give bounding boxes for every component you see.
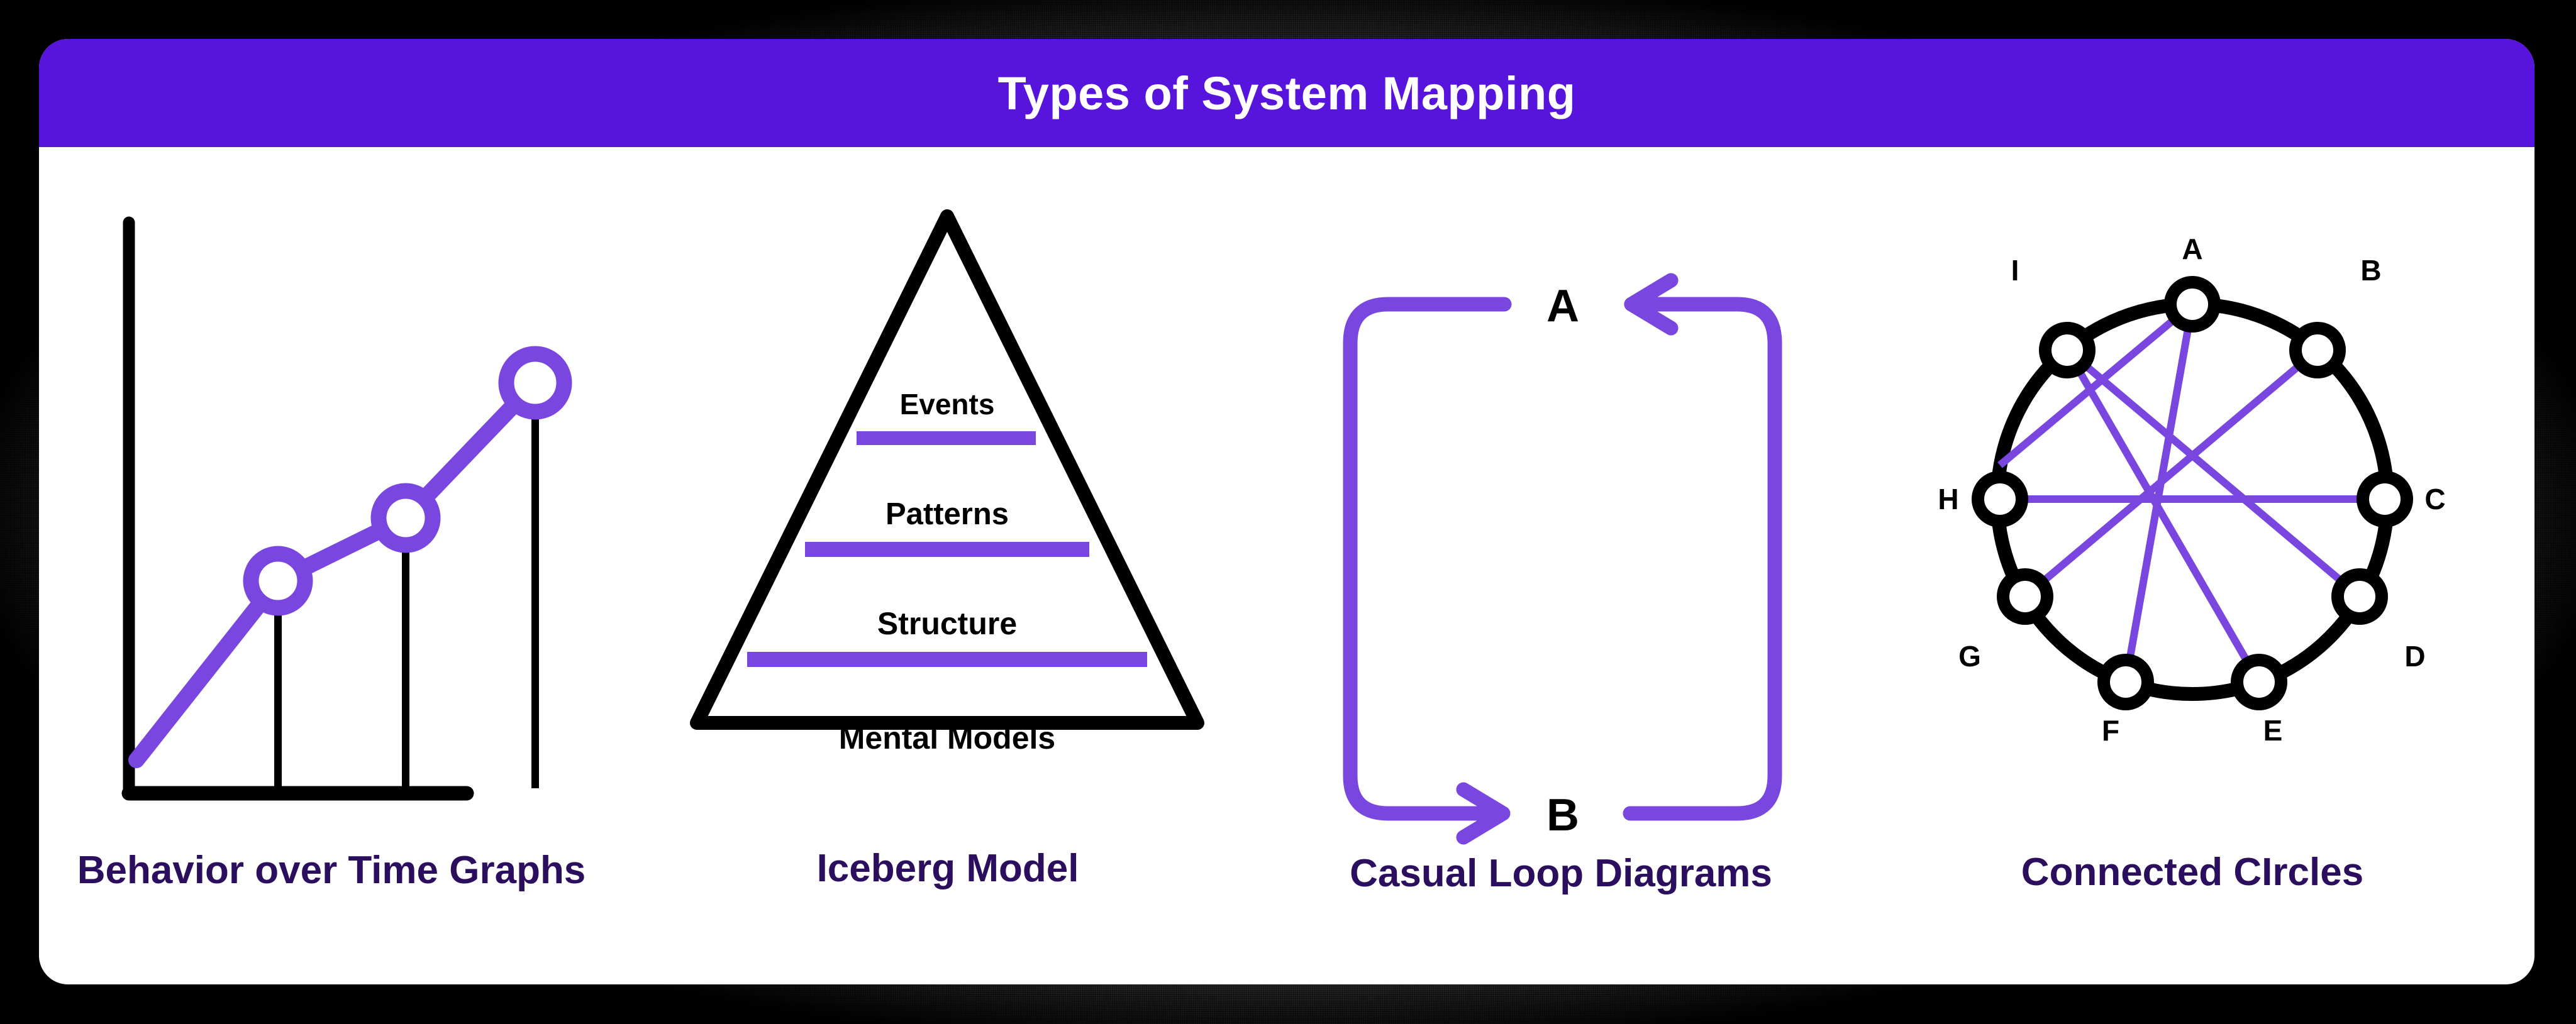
node-g[interactable] [2003, 575, 2047, 619]
series-line [136, 383, 535, 760]
panel-causal-loop: A B Casual Loop Diagrams [1272, 147, 1850, 984]
node-group [1978, 282, 2407, 704]
loop-path-right [1630, 304, 1775, 813]
chord-b-g [2025, 350, 2318, 597]
iceberg-level-label-structure: Structure [877, 606, 1017, 641]
node-label-h: H [1938, 483, 1958, 515]
connected-circles-art: A B C D E F G H I [1850, 147, 2534, 845]
node-label-c: C [2424, 483, 2445, 515]
loop-path-left [1350, 304, 1504, 813]
data-point-marker [379, 491, 433, 545]
pyramid-outline [697, 216, 1197, 723]
botg-svg [39, 147, 624, 845]
page-title: Types of System Mapping [998, 67, 1576, 120]
node-i[interactable] [2045, 328, 2089, 372]
panels-row: Behavior over Time Graphs Events Pattern… [39, 147, 2534, 984]
data-point-marker [251, 554, 305, 608]
slide-card: Types of System Mapping [39, 39, 2534, 984]
node-f[interactable] [2104, 660, 2148, 704]
title-bar: Types of System Mapping [39, 39, 2534, 147]
iceberg-level-label-events: Events [900, 388, 995, 421]
data-point-marker [506, 354, 564, 412]
node-h[interactable] [1978, 477, 2022, 521]
panel-iceberg-model: Events Patterns Structure Mental Models … [624, 147, 1272, 984]
panel-caption: Connected CIrcles [1850, 850, 2534, 895]
iceberg-level-label-mental-models: Mental Models [839, 720, 1055, 756]
node-a[interactable] [2170, 282, 2214, 326]
screenshot-root: Types of System Mapping [0, 0, 2576, 1024]
node-label-f: F [2102, 714, 2119, 747]
panel-behavior-over-time: Behavior over Time Graphs [39, 147, 624, 984]
panel-caption: Casual Loop Diagrams [1272, 851, 1850, 896]
node-label-b: B [2360, 254, 2381, 287]
chord-a-f [2126, 304, 2192, 682]
panel-connected-circles: A B C D E F G H I Connected CIrcles [1850, 147, 2534, 984]
chord-i-d [2067, 350, 2360, 597]
node-e[interactable] [2237, 660, 2281, 704]
loop-node-label-a: A [1546, 281, 1579, 331]
causal-loop-svg: A B [1272, 147, 1850, 845]
loop-node-label-b: B [1546, 790, 1579, 840]
panel-caption: Iceberg Model [624, 846, 1272, 891]
iceberg-art: Events Patterns Structure Mental Models [624, 147, 1272, 845]
node-label-d: D [2404, 640, 2425, 673]
iceberg-level-label-patterns: Patterns [885, 497, 1009, 531]
chord-i-e [2067, 350, 2259, 682]
iceberg-svg: Events Patterns Structure Mental Models [624, 147, 1272, 845]
node-label-g: G [1958, 640, 1981, 673]
node-c[interactable] [2363, 477, 2407, 521]
panel-caption: Behavior over Time Graphs [39, 848, 624, 893]
behavior-over-time-art [39, 147, 624, 845]
node-label-a: A [2182, 233, 2202, 265]
node-b[interactable] [2296, 328, 2340, 372]
causal-loop-art: A B [1272, 147, 1850, 845]
node-d[interactable] [2338, 575, 2382, 619]
node-label-i: I [2011, 254, 2019, 287]
connected-circles-svg: A B C D E F G H I [1850, 147, 2534, 845]
node-label-e: E [2263, 714, 2283, 747]
